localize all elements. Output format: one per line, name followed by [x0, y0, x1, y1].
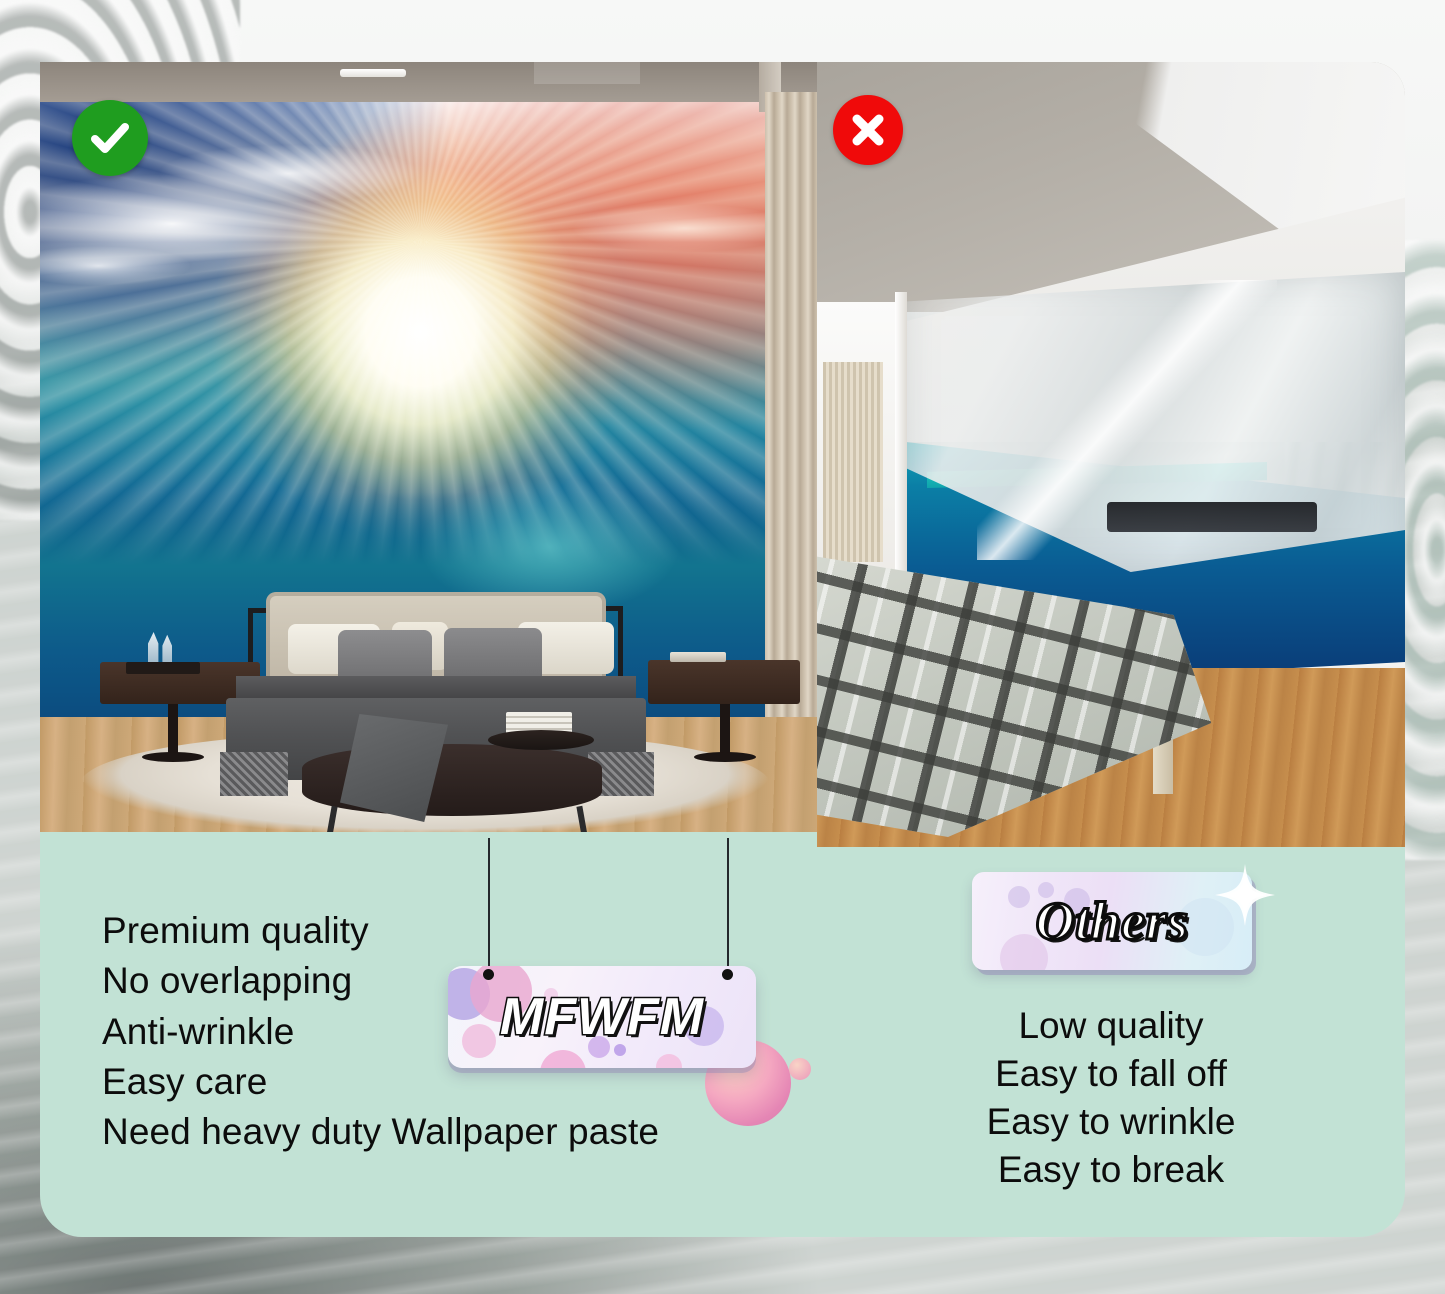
- right-photo-bad-install: [817, 62, 1405, 847]
- drawback-item: Easy to wrinkle: [817, 1098, 1405, 1146]
- decorative-orb-small: [789, 1058, 811, 1080]
- drawback-item: Low quality: [817, 1002, 1405, 1050]
- window-blind: [823, 362, 883, 562]
- nightstand-book: [670, 652, 726, 662]
- sign-anchor-right: [722, 969, 733, 980]
- feature-item: Premium quality: [102, 906, 659, 956]
- brand-sign-mfwfm: MFWFM: [448, 966, 756, 1068]
- left-photo-good-install: [40, 62, 817, 832]
- wall-art: [1107, 502, 1317, 532]
- drawback-item: Easy to fall off: [817, 1050, 1405, 1098]
- drawback-item: Easy to break: [817, 1146, 1405, 1194]
- ceiling: [40, 62, 817, 102]
- brand-sign-others: Others: [972, 872, 1252, 970]
- nightstand-left-base: [142, 752, 204, 762]
- brand-name-label: MFWFM: [448, 966, 756, 1068]
- drawback-list: Low quality Easy to fall off Easy to wri…: [817, 1002, 1405, 1194]
- ceiling-light-strip: [340, 69, 406, 77]
- feature-item: Need heavy duty Wallpaper paste: [102, 1107, 659, 1157]
- nightstand-tray: [126, 662, 200, 674]
- ceiling-vent: [534, 62, 640, 84]
- nightstand-right-leg: [720, 704, 730, 758]
- nightstand-right: [648, 660, 800, 704]
- bed-base-left: [220, 752, 288, 796]
- sign-anchor-left: [483, 969, 494, 980]
- sign-string-right: [727, 838, 729, 974]
- green-check-icon: [72, 100, 148, 176]
- nightstand-left-leg: [168, 704, 178, 758]
- others-label: Others: [972, 872, 1252, 970]
- nightstand-right-base: [694, 752, 756, 762]
- sign-string-left: [488, 838, 490, 974]
- red-x-icon: [833, 95, 903, 165]
- right-comparison-panel: Low quality Easy to fall off Easy to wri…: [817, 62, 1405, 1237]
- ottoman-tray: [488, 730, 594, 750]
